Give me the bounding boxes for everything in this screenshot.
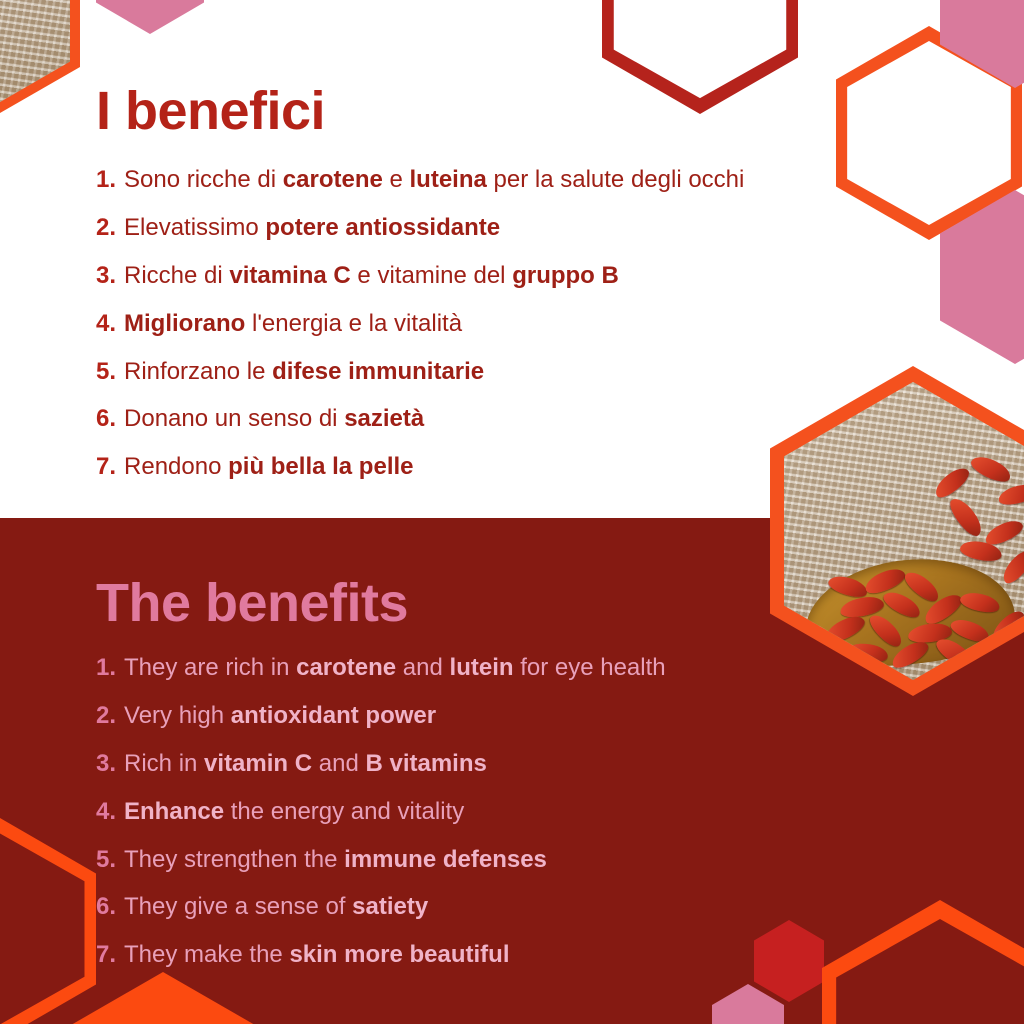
benefit-item-text: Ricche di vitamina C e vitamine del grup…: [124, 263, 619, 290]
benefit-item-text: Rich in vitamin C and B vitamins: [124, 751, 487, 778]
benefit-item-number: 4.: [96, 799, 116, 826]
benefit-item-number: 1.: [96, 655, 116, 682]
benefit-item-text: Donano un senso di sazietà: [124, 406, 424, 433]
benefit-item-text: Migliorano l'energia e la vitalità: [124, 311, 462, 338]
benefit-item-number: 2.: [96, 703, 116, 730]
benefit-item: 5.They strengthen the immune defenses: [96, 847, 876, 874]
benefit-item: 1.Sono ricche di carotene e luteina per …: [96, 167, 876, 194]
benefit-item-number: 5.: [96, 359, 116, 386]
benefit-item-number: 6.: [96, 894, 116, 921]
benefit-item: 4.Migliorano l'energia e la vitalità: [96, 311, 876, 338]
benefit-item: 5.Rinforzano le difese immunitarie: [96, 359, 876, 386]
benefit-item-text: They strengthen the immune defenses: [124, 847, 547, 874]
italian-heading: I benefici: [96, 84, 876, 138]
benefit-item-number: 4.: [96, 311, 116, 338]
benefit-item-text: Very high antioxidant power: [124, 703, 436, 730]
benefit-item-text: They give a sense of satiety: [124, 894, 428, 921]
benefit-item-number: 2.: [96, 215, 116, 242]
benefit-item-text: Elevatissimo potere antiossidante: [124, 215, 500, 242]
benefit-item: 4.Enhance the energy and vitality: [96, 799, 876, 826]
benefit-item-number: 1.: [96, 167, 116, 194]
benefit-item-number: 3.: [96, 263, 116, 290]
benefit-item-number: 6.: [96, 406, 116, 433]
benefit-item-number: 7.: [96, 454, 116, 481]
italian-benefit-list: 1.Sono ricche di carotene e luteina per …: [96, 167, 876, 481]
italian-section: I benefici 1.Sono ricche di carotene e l…: [96, 84, 876, 481]
infographic-poster: I benefici 1.Sono ricche di carotene e l…: [0, 0, 1024, 1024]
english-section: The benefits 1.They are rich in carotene…: [96, 576, 876, 969]
english-heading: The benefits: [96, 576, 876, 630]
benefit-item-text: Rendono più bella la pelle: [124, 454, 413, 481]
benefit-item: 6.Donano un senso di sazietà: [96, 406, 876, 433]
benefit-item: 3.Rich in vitamin C and B vitamins: [96, 751, 876, 778]
benefit-item-text: They make the skin more beautiful: [124, 942, 509, 969]
benefit-item: 2.Very high antioxidant power: [96, 703, 876, 730]
benefit-item: 7.They make the skin more beautiful: [96, 942, 876, 969]
benefit-item: 6.They give a sense of satiety: [96, 894, 876, 921]
hexagon-outline-orange-bottomleft: [0, 818, 96, 1024]
benefit-item: 1.They are rich in carotene and lutein f…: [96, 655, 876, 682]
benefit-item-text: Rinforzano le difese immunitarie: [124, 359, 484, 386]
benefit-item-number: 7.: [96, 942, 116, 969]
benefit-item-text: They are rich in carotene and lutein for…: [124, 655, 666, 682]
benefit-item: 2.Elevatissimo potere antiossidante: [96, 215, 876, 242]
benefit-item: 3.Ricche di vitamina C e vitamine del gr…: [96, 263, 876, 290]
benefit-item-text: Sono ricche di carotene e luteina per la…: [124, 167, 744, 194]
benefit-item-text: Enhance the energy and vitality: [124, 799, 464, 826]
benefit-item-number: 5.: [96, 847, 116, 874]
benefit-item-number: 3.: [96, 751, 116, 778]
english-benefit-list: 1.They are rich in carotene and lutein f…: [96, 655, 876, 969]
benefit-item: 7.Rendono più bella la pelle: [96, 454, 876, 481]
